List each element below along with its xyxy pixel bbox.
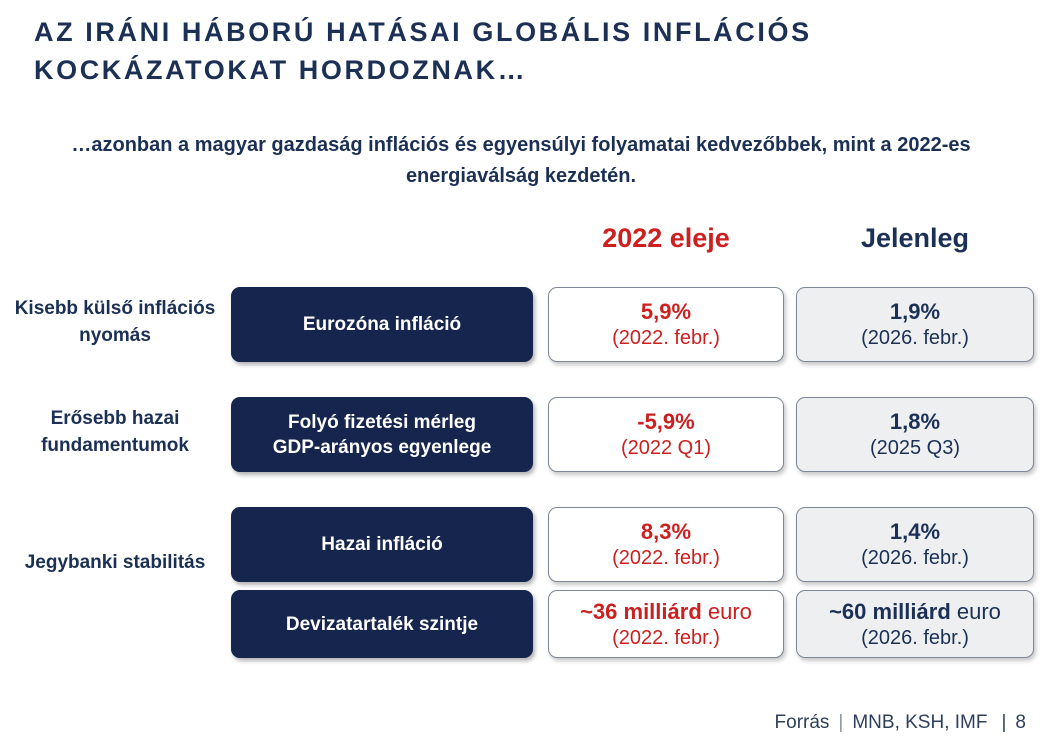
value-main: 1,9%	[890, 298, 940, 325]
value-note: (2026. febr.)	[861, 325, 969, 351]
page-subtitle: …azonban a magyar gazdaság inflációs és …	[60, 130, 982, 192]
column-header-past: 2022 eleje	[548, 221, 784, 255]
value-note: (2022. febr.)	[612, 545, 720, 571]
footer-source-label: Forrás	[775, 712, 830, 734]
value-card-past-current-account-balance: -5,9% (2022 Q1)	[548, 397, 784, 472]
group-label-external-inflation: Kisebb külső inflációs nyomás	[8, 295, 222, 349]
value-main: ~36 milliárd euro	[580, 598, 752, 625]
value-card-past-domestic-inflation: 8,3% (2022. febr.)	[548, 507, 784, 582]
value-card-present-current-account-balance: 1,8% (2025 Q3)	[796, 397, 1034, 472]
group-label-domestic-fundamentals: Erősebb hazai fundamentumok	[8, 405, 222, 459]
value-note: (2026. febr.)	[861, 625, 969, 651]
metric-box-domestic-inflation: Hazai infláció	[231, 507, 533, 582]
value-note: (2022. febr.)	[612, 325, 720, 351]
metric-box-eurozone-inflation: Eurozóna infláció	[231, 287, 533, 362]
value-card-present-fx-reserves-level: ~60 milliárd euro (2026. febr.)	[796, 590, 1034, 658]
value-main: ~60 milliárd euro	[829, 598, 1001, 625]
value-main: 1,8%	[890, 408, 940, 435]
metric-box-fx-reserves-level: Devizatartalék szintje	[231, 590, 533, 658]
value-card-present-domestic-inflation: 1,4% (2026. febr.)	[796, 507, 1034, 582]
metric-box-current-account-balance: Folyó fizetési mérleg GDP-arányos egyenl…	[231, 397, 533, 472]
footer-sources: MNB, KSH, IMF	[852, 712, 987, 734]
value-main: 8,3%	[641, 518, 691, 545]
footer: Forrás | MNB, KSH, IMF | 8	[775, 712, 1026, 734]
value-card-present-eurozone-inflation: 1,9% (2026. febr.)	[796, 287, 1034, 362]
value-note: (2022. febr.)	[612, 625, 720, 651]
value-main: 5,9%	[641, 298, 691, 325]
value-note: (2025 Q3)	[870, 435, 960, 461]
value-main: -5,9%	[637, 408, 694, 435]
value-note: (2022 Q1)	[621, 435, 711, 461]
group-label-central-bank-stability: Jegybanki stabilitás	[8, 549, 222, 576]
value-card-past-fx-reserves-level: ~36 milliárd euro (2022. febr.)	[548, 590, 784, 658]
value-main: 1,4%	[890, 518, 940, 545]
column-header-present: Jelenleg	[796, 221, 1034, 255]
page-title: AZ IRÁNI HÁBORÚ HATÁSAI GLOBÁLIS INFLÁCI…	[34, 13, 994, 89]
page-number: 8	[1015, 712, 1026, 734]
footer-page-separator: |	[1001, 712, 1006, 734]
value-note: (2026. febr.)	[861, 545, 969, 571]
footer-separator: |	[838, 712, 843, 734]
value-card-past-eurozone-inflation: 5,9% (2022. febr.)	[548, 287, 784, 362]
